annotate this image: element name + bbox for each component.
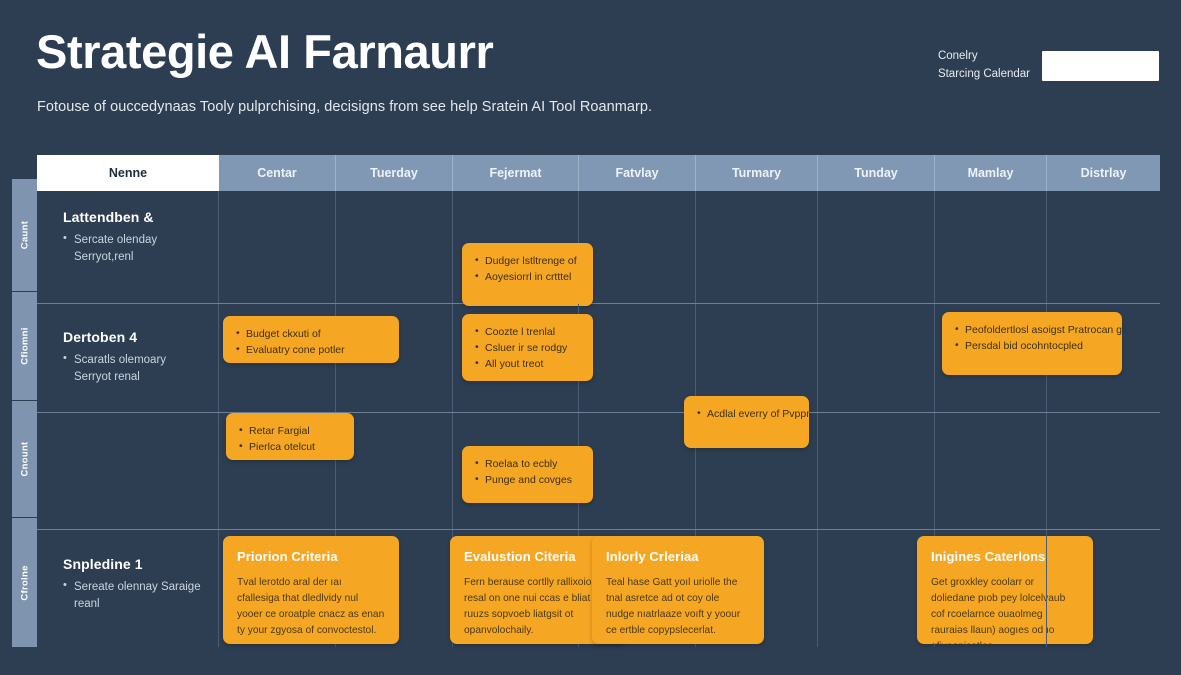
rail-label-1: Cfiomni — [19, 327, 30, 364]
cell-r1-fatvlay[interactable] — [579, 304, 696, 412]
row-label-cell-1: Dertoben 4 Scaratls olemoary Serryot ren… — [37, 304, 219, 412]
cell-r3-turmary[interactable] — [696, 530, 818, 647]
card-bullet: All yout treot — [475, 357, 580, 373]
column-header-mamlay[interactable]: Mamlay — [935, 155, 1047, 191]
cell-r0-centar[interactable] — [219, 191, 336, 303]
starting-calendar-input[interactable] — [1042, 51, 1159, 81]
column-header-turmary[interactable]: Turmary — [696, 155, 818, 191]
cell-r2-turmary[interactable]: Acdlal everry of Pvppness — [696, 413, 818, 529]
row-label-3: Snpledine 1 Sereate olennay Saraige rean… — [37, 530, 218, 612]
cell-r3-tunday[interactable]: Inigines Caterlons Get groxkley coolarr … — [818, 530, 935, 647]
card-bullet: Dudger lstltrenge of — [475, 254, 580, 270]
cell-r0-fatvlay[interactable] — [579, 191, 696, 303]
card-bullet: Aoyesiorrl in crtttel — [475, 270, 580, 286]
row-bullet: Scaratls olemoary Serryot renal — [63, 352, 204, 385]
card-bullet: Csluer ir se rodgy — [475, 341, 580, 357]
column-header-nenne[interactable]: Nenne — [37, 155, 219, 191]
card-r3-fejermat[interactable]: Roelaa to ecbly Punge and covges — [462, 446, 593, 503]
card-bullet: Punge and covges — [475, 473, 580, 489]
row-label-cell-3: Snpledine 1 Sereate olennay Saraige rean… — [37, 530, 219, 647]
row-bullet: Sercate olenday Serryot,renl — [63, 232, 204, 265]
page-subtitle: Fotouse of ouccedynaas Tooly pulprchisin… — [37, 99, 652, 115]
cell-r0-fejermat[interactable]: Dudger lstltrenge of Aoyesiorrl in crttt… — [453, 191, 579, 303]
cell-r0-tunday[interactable] — [818, 191, 935, 303]
card-bullets: Dudger lstltrenge of Aoyesiorrl in crttt… — [475, 254, 580, 286]
grid-row-2: Retar Fargial Pierlca otelcut Roelaa to … — [37, 413, 1160, 530]
rail-cell-2[interactable]: Cnount — [12, 401, 37, 518]
grid-row-0: Lattendben & Sercate olenday Serryot,ren… — [37, 191, 1160, 304]
row-bullet: Sereate olennay Saraige reanl — [63, 579, 204, 612]
cell-r1-fejermat[interactable]: Coozte l trenlal Csluer ir se rodgy All … — [453, 304, 579, 412]
cell-r1-mamlay[interactable]: Peofoldertlosl asoigst Pratrocan g al fi… — [935, 304, 1047, 412]
cell-r0-mamlay[interactable] — [935, 191, 1047, 303]
row-label-0: Lattendben & Sercate olenday Serryot,ren… — [37, 191, 218, 265]
cell-r2-fejermat[interactable]: Roelaa to ecbly Punge and covges — [453, 413, 579, 529]
grid-row-1: Dertoben 4 Scaratls olemoary Serryot ren… — [37, 304, 1160, 413]
column-header-tuerday[interactable]: Tuerday — [336, 155, 453, 191]
row-title-3: Snpledine 1 — [63, 556, 204, 572]
cell-r2-distrlay[interactable] — [1047, 413, 1160, 529]
cell-r2-mamlay[interactable] — [935, 413, 1047, 529]
row-bullets-1: Scaratls olemoary Serryot renal — [63, 352, 204, 385]
card-r3-turmary[interactable]: Acdlal everry of Pvppness — [684, 396, 809, 448]
row-label-2 — [37, 413, 218, 431]
row-label-cell-0: Lattendben & Sercate olenday Serryot,ren… — [37, 191, 219, 303]
grid-row-3: Snpledine 1 Sereate olennay Saraige rean… — [37, 530, 1160, 647]
rail-cell-0[interactable]: Caunt — [12, 179, 37, 292]
row-title-1: Dertoben 4 — [63, 329, 204, 345]
column-header-distrlay[interactable]: Distrlay — [1047, 155, 1160, 191]
cell-r1-distrlay[interactable] — [1047, 304, 1160, 412]
row-title-0: Lattendben & — [63, 209, 204, 225]
cell-r1-tunday[interactable] — [818, 304, 935, 412]
rail-label-0: Caunt — [19, 221, 30, 249]
card-bullets: Retar Fargial Pierlca otelcut — [239, 424, 341, 456]
cell-r2-fatvlay[interactable] — [579, 413, 696, 529]
cell-r1-tuerday[interactable] — [336, 304, 453, 412]
row-bullets-0: Sercate olenday Serryot,renl — [63, 232, 204, 265]
row-label-1: Dertoben 4 Scaratls olemoary Serryot ren… — [37, 304, 218, 385]
starting-calendar-control: Conelry Starcing Calendar — [938, 48, 1159, 84]
card-r3-centar[interactable]: Retar Fargial Pierlca otelcut — [226, 413, 354, 460]
column-header-centar[interactable]: Centar — [219, 155, 336, 191]
cell-r2-centar[interactable]: Retar Fargial Pierlca otelcut — [219, 413, 336, 529]
page-header: Strategie AI Farnaurr Fotouse of ouccedy… — [0, 0, 1181, 145]
starting-calendar-label-line1: Conelry — [938, 50, 978, 62]
card-r1-fejermat[interactable]: Dudger lstltrenge of Aoyesiorrl in crttt… — [462, 243, 593, 306]
cell-r1-centar[interactable]: Budget ckxuti of Evaluatry cone potler — [219, 304, 336, 412]
cell-r0-turmary[interactable] — [696, 191, 818, 303]
grid-header-row: Nenne Centar Tuerday Fejermat Fatvlay Tu… — [37, 155, 1160, 191]
starting-calendar-label-line2: Starcing Calendar — [938, 66, 1030, 84]
card-bullet: Roelaa to ecbly — [475, 457, 580, 473]
calendar-grid: Nenne Centar Tuerday Fejermat Fatvlay Tu… — [37, 155, 1160, 647]
card-bullets: Roelaa to ecbly Punge and covges — [475, 457, 580, 489]
rail-cell-1[interactable]: Cfiomni — [12, 292, 37, 401]
row-bullets-3: Sereate olennay Saraige reanl — [63, 579, 204, 612]
cell-r3-tuerday[interactable] — [336, 530, 453, 647]
cell-r2-tuerday[interactable] — [336, 413, 453, 529]
card-bullets: Coozte l trenlal Csluer ir se rodgy All … — [475, 325, 580, 372]
card-bullet: Retar Fargial — [239, 424, 341, 440]
column-header-fejermat[interactable]: Fejermat — [453, 155, 579, 191]
card-r2-fejermat[interactable]: Coozte l trenlal Csluer ir se rodgy All … — [462, 314, 593, 381]
cell-r3-centar[interactable]: Priorion Criteria Tval lerotdo aral der … — [219, 530, 336, 647]
column-header-tunday[interactable]: Tunday — [818, 155, 935, 191]
phase-rail: Caunt Cfiomni Cnount Cfrolne — [12, 179, 37, 647]
grid-body: Lattendben & Sercate olenday Serryot,ren… — [37, 191, 1160, 647]
rail-label-2: Cnount — [19, 441, 30, 476]
cell-r0-distrlay[interactable] — [1047, 191, 1160, 303]
page-title: Strategie AI Farnaurr — [36, 27, 493, 78]
card-bullet: Pierlca otelcut — [239, 440, 341, 456]
cell-r3-mamlay[interactable] — [935, 530, 1047, 647]
starting-calendar-label: Conelry Starcing Calendar — [938, 48, 1030, 84]
cell-r0-tuerday[interactable] — [336, 191, 453, 303]
cell-r2-tunday[interactable] — [818, 413, 935, 529]
card-bullet: Coozte l trenlal — [475, 325, 580, 341]
column-header-fatvlay[interactable]: Fatvlay — [579, 155, 696, 191]
rail-cell-3[interactable]: Cfrolne — [12, 518, 37, 647]
calendar-board: Caunt Cfiomni Cnount Cfrolne Nenne Centa… — [12, 155, 1160, 647]
cell-r3-fatvlay[interactable]: Inlorly Crleriaa Teal hase Gatt yoıl uri… — [579, 530, 696, 647]
card-bullet: Acdlal everry of Pvppness — [697, 407, 796, 423]
row-label-cell-2 — [37, 413, 219, 529]
cell-r3-distrlay[interactable] — [1047, 530, 1160, 647]
card-bullets: Acdlal everry of Pvppness — [697, 407, 796, 423]
rail-label-3: Cfrolne — [19, 565, 30, 600]
cell-r3-fejermat[interactable]: Evalustion Citeria Fern berause cortlly … — [453, 530, 579, 647]
